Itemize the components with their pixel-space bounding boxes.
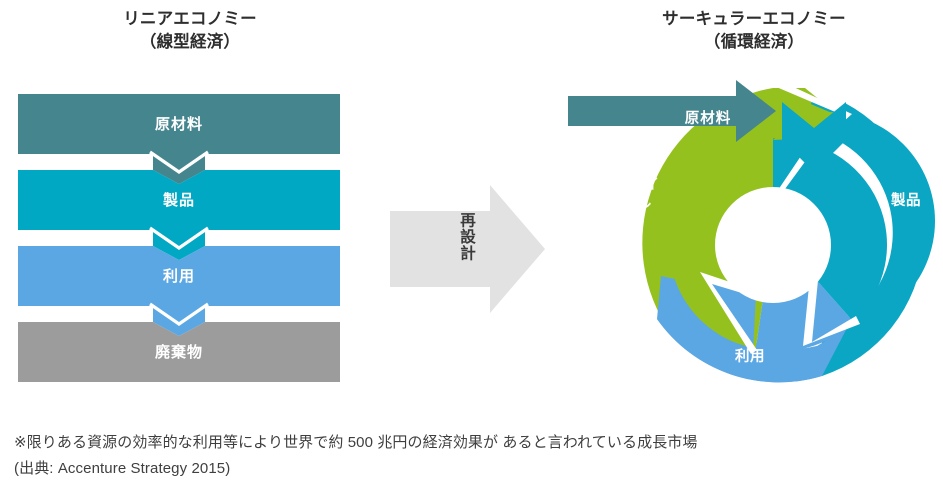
redesign-arrow-label: 再設計 [440,212,476,262]
linear-economy-flow: 原材料 製品 利用 廃棄物 [0,80,380,400]
circular-economy-diagram: 原材料 製品 利用 リサイ クル [560,80,943,410]
raw-material-arrow-shape [568,80,776,142]
circular-diagram-hub [715,187,831,303]
circular-economy-title: サーキュラーエコノミー （循環経済） [565,8,943,54]
circular-economy-title-sub: （循環経済） [565,31,943,54]
footnote-line-2: (出典: Accenture Strategy 2015) [14,456,939,482]
footnote: ※限りある資源の効率的な利用等により世界で約 500 兆円の経済効果が あると言… [14,430,939,482]
footnote-line-1: ※限りある資源の効率的な利用等により世界で約 500 兆円の経済効果が あると言… [14,430,939,456]
linear-economy-title-sub: （線型経済） [0,31,380,54]
linear-economy-title-main: リニアエコノミー [0,8,380,31]
linear-economy-title: リニアエコノミー （線型経済） [0,8,380,54]
circular-economy-title-main: サーキュラーエコノミー [565,8,943,31]
segment-raw-material[interactable] [568,80,776,142]
